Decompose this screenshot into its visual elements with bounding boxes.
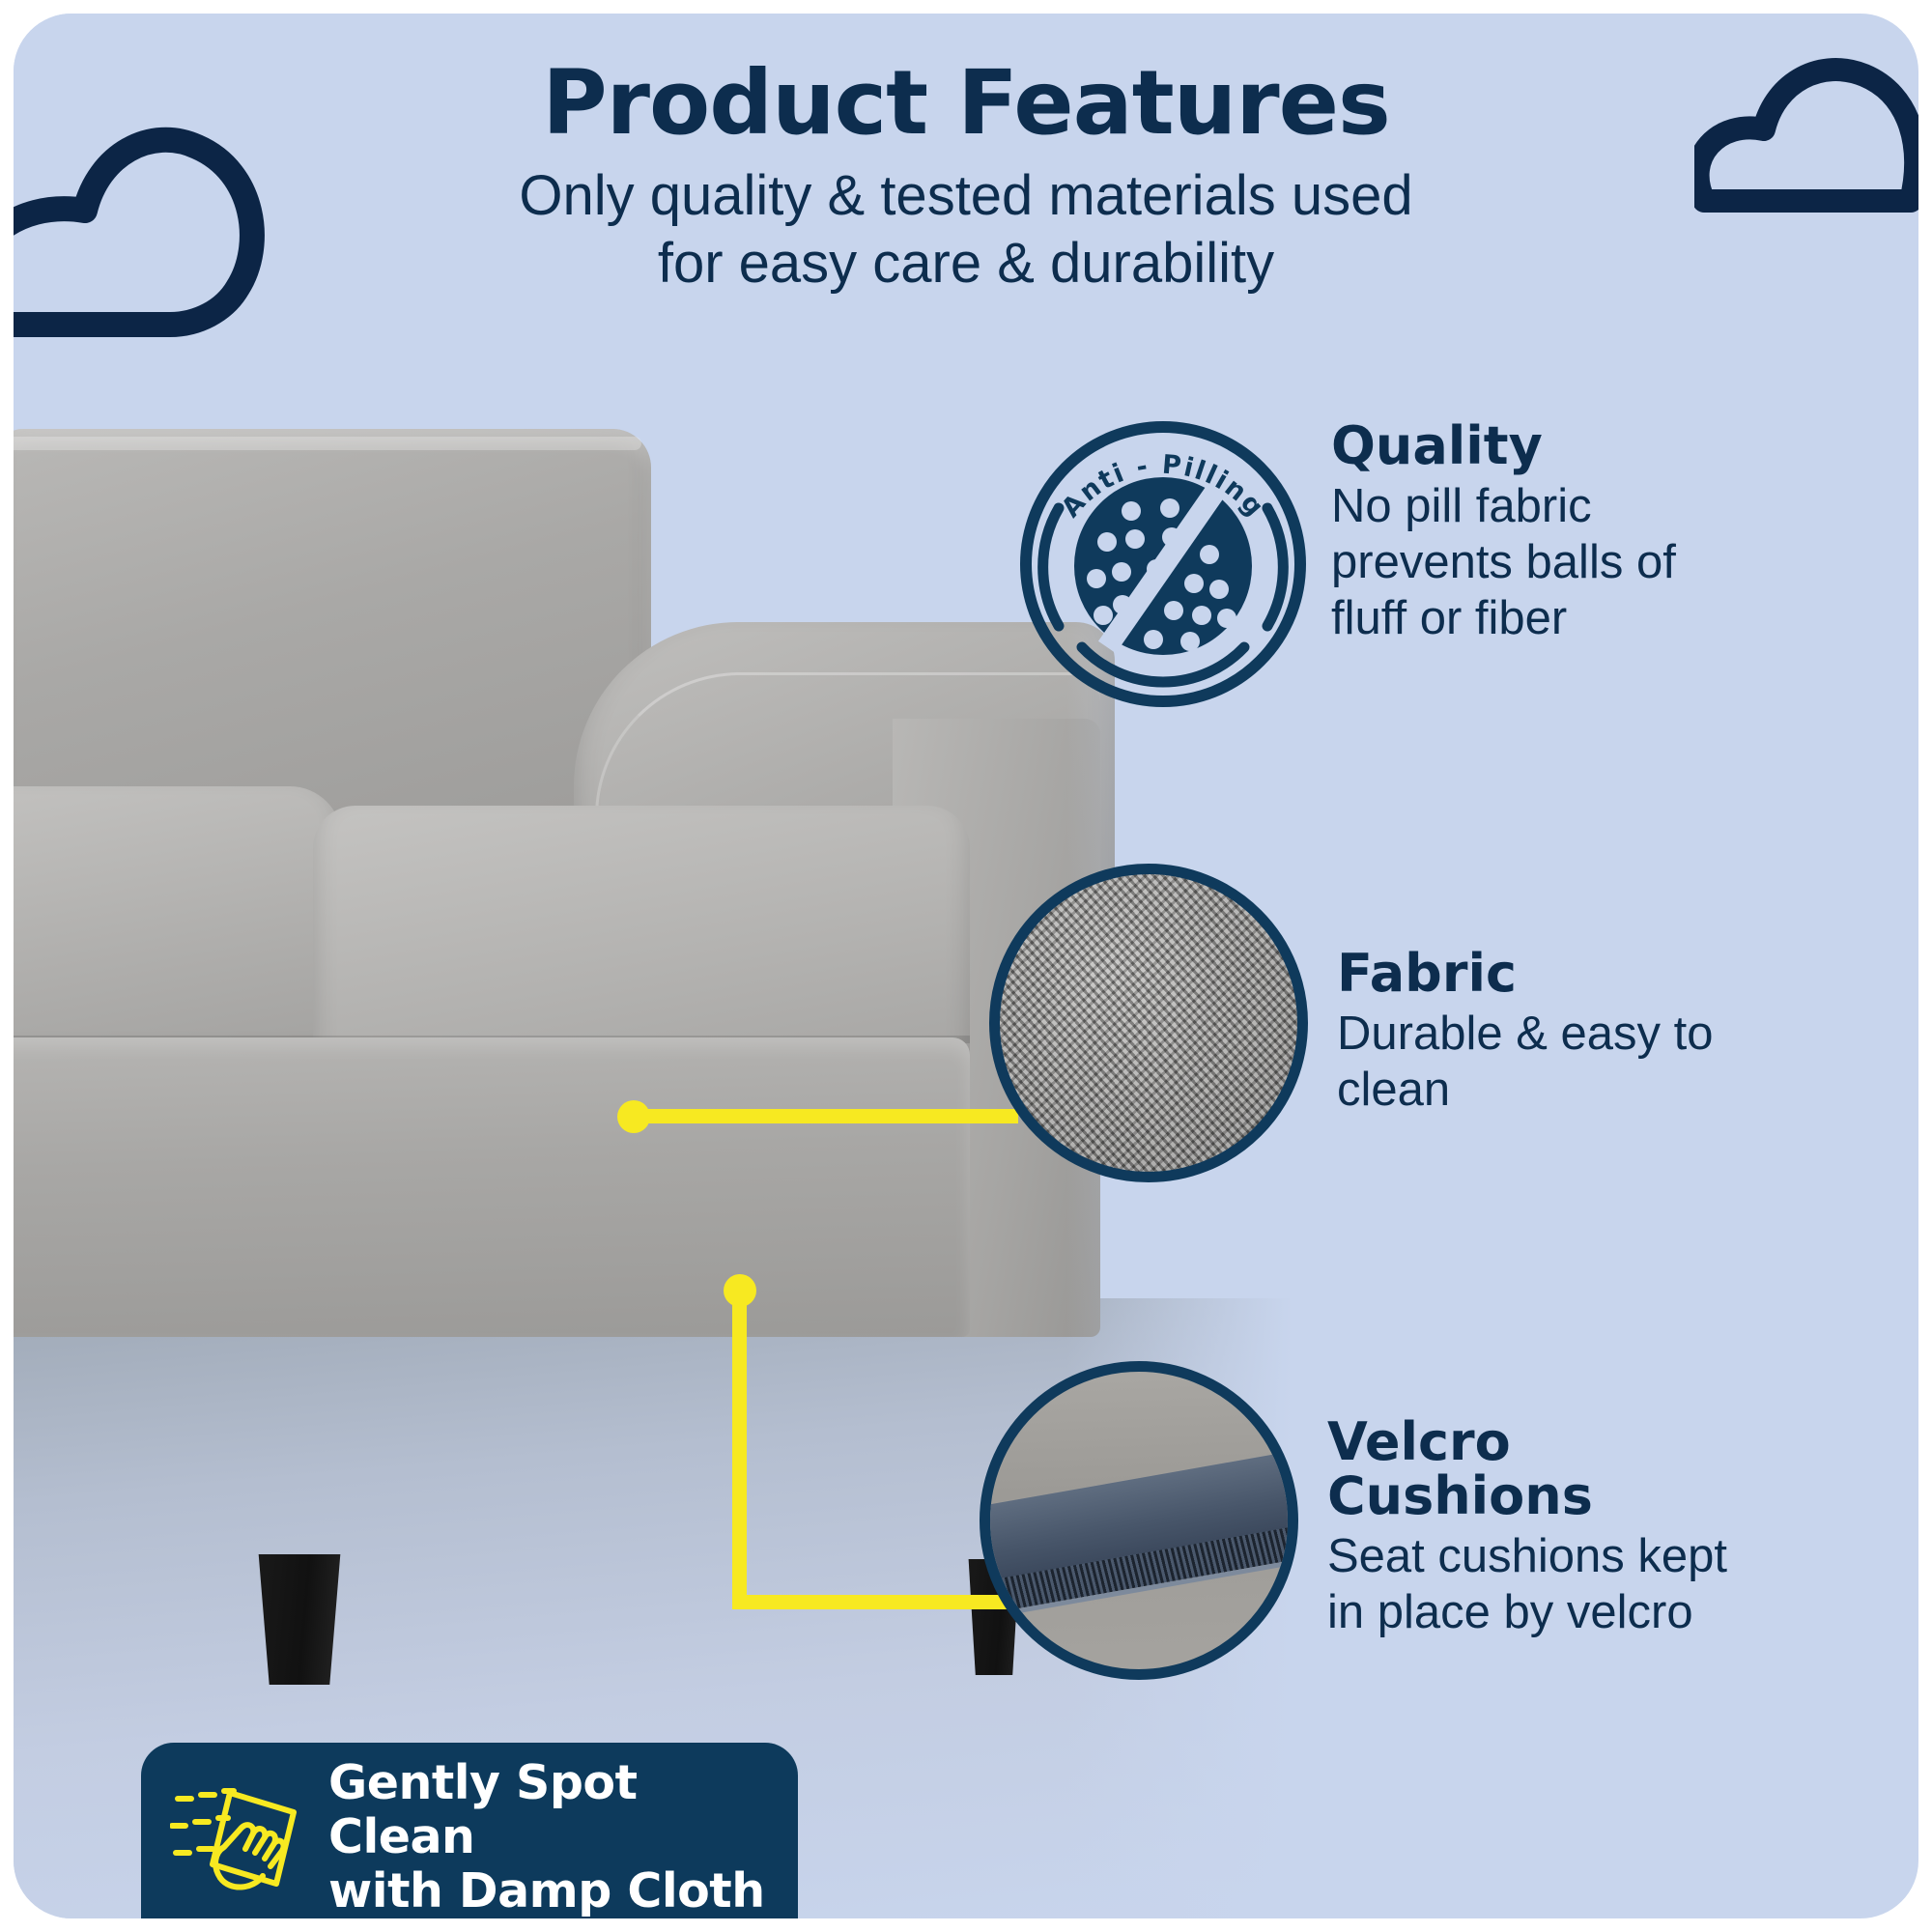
feature-velcro-cushions: Velcro Cushions Seat cushions kept in pl…: [980, 1361, 1752, 1680]
anti-pilling-seal-icon: Anti - Pilling: [1018, 419, 1308, 709]
sofa-base: [14, 1037, 970, 1337]
spot-clean-text: Gently Spot Clean with Damp Cloth: [328, 1756, 798, 1918]
subtitle-line-2: for easy care & durability: [14, 230, 1918, 298]
feature-quality-heading: Quality: [1331, 419, 1737, 473]
subtitle-line-1: Only quality & tested materials used: [14, 162, 1918, 231]
infographic-canvas: Product Features Only quality & tested m…: [0, 0, 1932, 1932]
feature-velcro-text: Velcro Cushions Seat cushions kept in pl…: [1327, 1415, 1752, 1641]
feature-fabric-heading: Fabric: [1337, 947, 1762, 1001]
page-subtitle: Only quality & tested materials used for…: [14, 162, 1918, 299]
callout-line-velcro-vertical: [732, 1291, 747, 1609]
velcro-closeup-circle: [980, 1361, 1298, 1680]
hand-wiping-cloth-icon: [170, 1770, 315, 1905]
feature-quality: Anti - Pilling Quality No pill fabric pr…: [1018, 419, 1737, 709]
feature-fabric-body: Durable & easy to clean: [1337, 1007, 1762, 1119]
sofa-seat-cushion-left: [14, 786, 342, 1066]
feature-velcro-heading: Velcro Cushions: [1327, 1415, 1752, 1523]
feature-fabric-text: Fabric Durable & easy to clean: [1337, 947, 1762, 1119]
sofa-leg-front: [255, 1554, 344, 1685]
spot-clean-line-2: with Damp Cloth: [328, 1864, 798, 1918]
feature-quality-text: Quality No pill fabric prevents balls of…: [1331, 419, 1737, 647]
sofa-back-cushion: [14, 429, 651, 844]
feature-velcro-body: Seat cushions kept in place by velcro: [1327, 1529, 1752, 1641]
header: Product Features Only quality & tested m…: [14, 56, 1918, 298]
content-panel: Product Features Only quality & tested m…: [14, 14, 1918, 1918]
spot-clean-badge: Gently Spot Clean with Damp Cloth: [141, 1743, 798, 1918]
page-title: Product Features: [14, 56, 1918, 151]
spot-clean-line-1: Gently Spot Clean: [328, 1756, 798, 1864]
feature-quality-body: No pill fabric prevents balls of fluff o…: [1331, 479, 1737, 646]
sofa-illustration: [14, 429, 1105, 1569]
callout-line-fabric: [632, 1109, 1018, 1123]
fabric-closeup-circle: [989, 864, 1308, 1182]
feature-fabric: Fabric Durable & easy to clean: [989, 864, 1762, 1182]
